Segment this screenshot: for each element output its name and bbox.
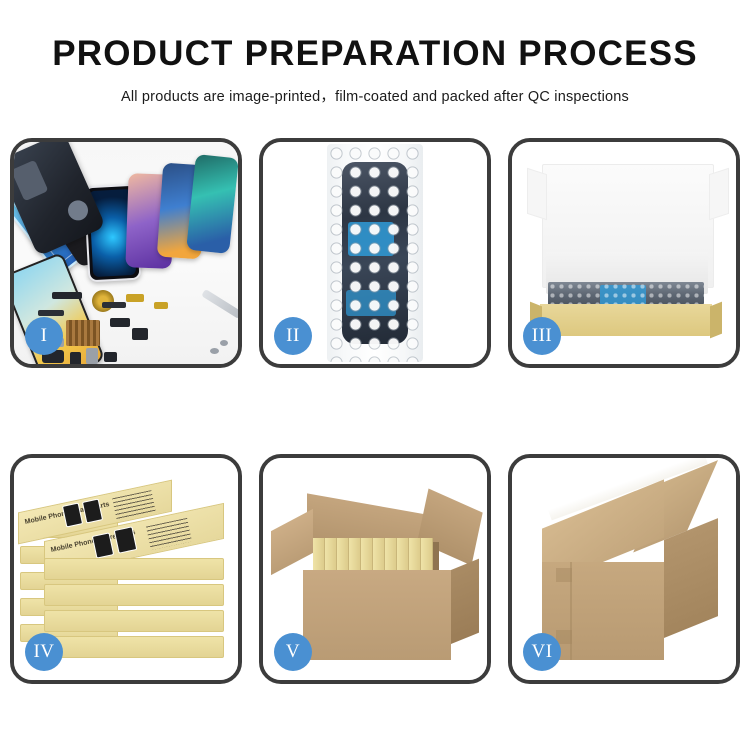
carton-side-face bbox=[451, 559, 479, 644]
carton-front-face bbox=[303, 570, 451, 660]
step-panel-1: I bbox=[10, 138, 242, 368]
process-steps-grid: I II III bbox=[10, 138, 740, 684]
screw-2 bbox=[220, 340, 228, 346]
step-panel-6: VI bbox=[508, 454, 740, 684]
step-badge-4: IV bbox=[25, 633, 63, 671]
infographic-page: PRODUCT PREPARATION PROCESS All products… bbox=[0, 0, 750, 750]
step-panel-2: II bbox=[259, 138, 491, 368]
retail-box-stack-right-3 bbox=[44, 610, 224, 632]
carton-seam-patch-top bbox=[556, 568, 572, 582]
step-panel-5: V bbox=[259, 454, 491, 684]
part-strip-3 bbox=[132, 328, 148, 340]
phone-teal bbox=[186, 154, 238, 254]
retail-box-stack-right-4 bbox=[44, 636, 224, 658]
step-panel-3: III bbox=[508, 138, 740, 368]
tweezers-tool bbox=[201, 289, 238, 319]
retail-box-stack-right-1 bbox=[44, 558, 224, 580]
bubble-wrap-bag bbox=[327, 144, 423, 362]
part-strip-1 bbox=[52, 292, 82, 299]
step-badge-1: I bbox=[25, 317, 63, 355]
part-button-1 bbox=[70, 352, 81, 364]
part-gold-1 bbox=[126, 294, 144, 302]
part-gold-2 bbox=[154, 302, 168, 309]
mailer-box-base bbox=[540, 304, 712, 336]
bubble-texture bbox=[327, 144, 423, 362]
step-panel-4: Mobile Phone Spare Parts Mobile Phone Sp… bbox=[10, 454, 242, 684]
page-title: PRODUCT PREPARATION PROCESS bbox=[0, 36, 750, 71]
speaker-coil-part bbox=[92, 290, 114, 312]
sealed-carton-side-face bbox=[664, 518, 718, 638]
step-badge-3: III bbox=[523, 317, 561, 355]
part-strip-2 bbox=[110, 318, 130, 327]
step-badge-2: II bbox=[274, 317, 312, 355]
page-subtitle: All products are image-printed，film-coat… bbox=[0, 85, 750, 106]
flex-cable-2 bbox=[102, 302, 126, 308]
connector-grid-part bbox=[66, 320, 100, 346]
screw-1 bbox=[210, 348, 219, 354]
flex-cable-1 bbox=[38, 310, 64, 316]
step-badge-6: VI bbox=[523, 633, 561, 671]
carton-flap-left bbox=[271, 509, 313, 575]
part-button-2 bbox=[104, 352, 117, 362]
header: PRODUCT PREPARATION PROCESS All products… bbox=[0, 0, 750, 106]
part-silver-2 bbox=[86, 348, 98, 364]
retail-box-stack-right-2 bbox=[44, 584, 224, 606]
step-badge-5: V bbox=[274, 633, 312, 671]
